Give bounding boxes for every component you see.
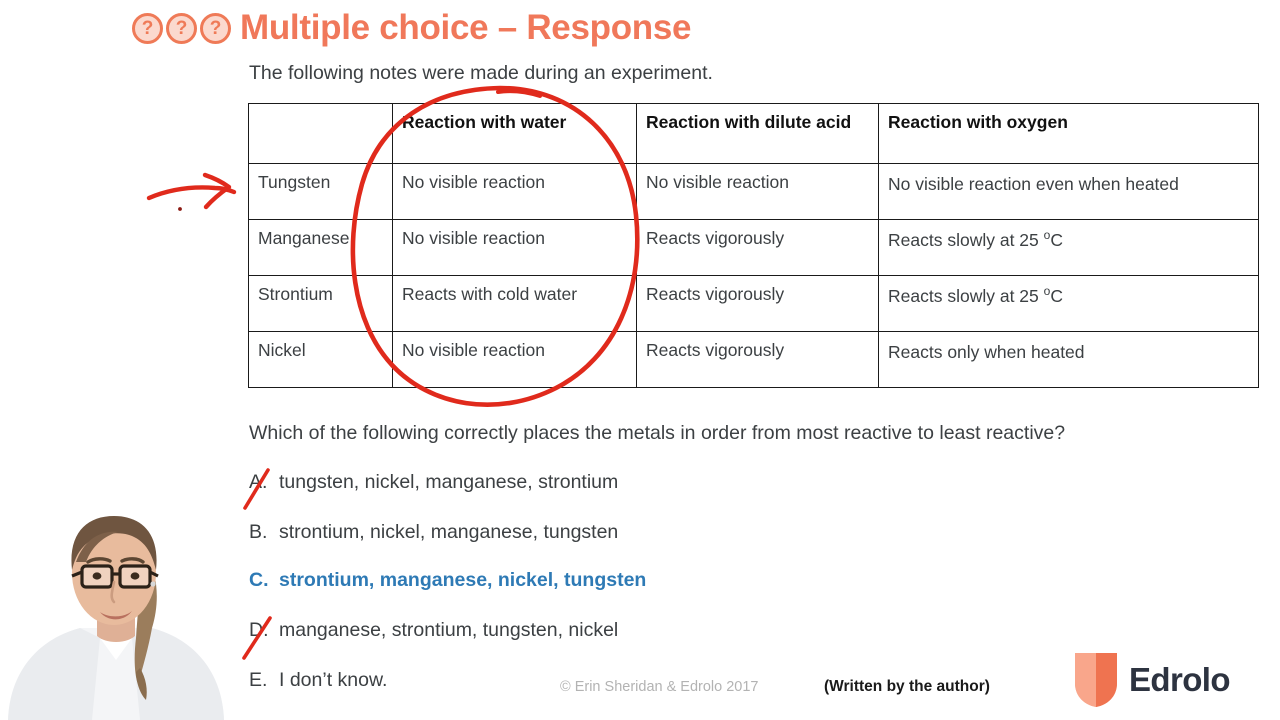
cell-metal: Manganese [249, 220, 393, 276]
question-mark-circle-icon: ? [166, 13, 197, 44]
cell-water: Reacts with cold water [393, 276, 637, 332]
option-b-text: strontium, nickel, manganese, tungsten [279, 521, 618, 543]
cell-metal: Strontium [249, 276, 393, 332]
table-row: Strontium Reacts with cold water Reacts … [249, 276, 1259, 332]
edrolo-logo: Edrolo [1073, 651, 1230, 709]
cell-oxygen-unit: C [1050, 230, 1063, 250]
cell-acid: Reacts vigorously [637, 332, 879, 388]
page-title-text: Multiple choice – Response [240, 8, 691, 48]
presenter-avatar [0, 478, 232, 720]
option-d-letter: D. [249, 619, 279, 642]
table-header-water: Reaction with water [393, 104, 637, 164]
option-c-letter: C. [249, 569, 279, 592]
page-title: ? ? ? Multiple choice – Response [132, 8, 691, 48]
shield-icon [1073, 651, 1119, 709]
reactivity-table: Reaction with water Reaction with dilute… [248, 103, 1259, 388]
cell-oxygen-text: Reacts slowly at 25 [888, 286, 1044, 306]
option-e-text: I don’t know. [279, 669, 387, 691]
cell-acid: Reacts vigorously [637, 220, 879, 276]
option-e[interactable]: E.I don’t know. [249, 669, 387, 692]
copyright-text: © Erin Sheridan & Edrolo 2017 [560, 679, 759, 695]
red-arrow-pointing-to-tungsten-row [149, 187, 234, 198]
cell-acid: No visible reaction [637, 164, 879, 220]
cell-water: No visible reaction [393, 164, 637, 220]
option-a-letter: A. [249, 471, 279, 494]
table-header-acid: Reaction with dilute acid [637, 104, 879, 164]
cell-acid: Reacts vigorously [637, 276, 879, 332]
red-ellipse-tail [498, 91, 540, 96]
cell-oxygen: Reacts only when heated [879, 332, 1259, 388]
cell-metal: Tungsten [249, 164, 393, 220]
cell-oxygen: Reacts slowly at 25 oC [879, 220, 1259, 276]
cell-metal: Nickel [249, 332, 393, 388]
table-header-row: Reaction with water Reaction with dilute… [249, 104, 1259, 164]
table-row: Nickel No visible reaction Reacts vigoro… [249, 332, 1259, 388]
option-a-text: tungsten, nickel, manganese, strontium [279, 471, 618, 493]
option-b[interactable]: B.strontium, nickel, manganese, tungsten [249, 521, 618, 544]
intro-text: The following notes were made during an … [249, 62, 713, 85]
edrolo-wordmark: Edrolo [1129, 661, 1230, 699]
question-prompt: Which of the following correctly places … [249, 422, 1065, 445]
cell-oxygen: No visible reaction even when heated [879, 164, 1259, 220]
option-d-text: manganese, strontium, tungsten, nickel [279, 619, 618, 641]
cell-oxygen: Reacts slowly at 25 oC [879, 276, 1259, 332]
question-mark-circle-icon: ? [132, 13, 163, 44]
cell-oxygen-text: Reacts slowly at 25 [888, 230, 1044, 250]
option-c[interactable]: C.strontium, manganese, nickel, tungsten [249, 569, 646, 592]
cell-oxygen-text: Reacts only when heated [888, 342, 1085, 362]
presenter-video-overlay[interactable] [0, 478, 232, 720]
cell-water: No visible reaction [393, 332, 637, 388]
table-row: Tungsten No visible reaction No visible … [249, 164, 1259, 220]
red-dot-mark [178, 207, 182, 211]
cell-oxygen-unit: C [1050, 286, 1063, 306]
option-a[interactable]: A.tungsten, nickel, manganese, strontium [249, 471, 618, 494]
slide-canvas: ? ? ? Multiple choice – Response The fol… [0, 0, 1280, 720]
table-row: Manganese No visible reaction Reacts vig… [249, 220, 1259, 276]
cell-oxygen-text: No visible reaction even when heated [888, 174, 1179, 194]
question-mark-circle-icon: ? [200, 13, 231, 44]
option-d[interactable]: D.manganese, strontium, tungsten, nickel [249, 619, 618, 642]
table-header-blank [249, 104, 393, 164]
cell-water: No visible reaction [393, 220, 637, 276]
red-arrow-head [205, 175, 229, 207]
option-b-letter: B. [249, 521, 279, 544]
option-e-letter: E. [249, 669, 279, 692]
table-header-oxygen: Reaction with oxygen [879, 104, 1259, 164]
option-c-text: strontium, manganese, nickel, tungsten [279, 569, 646, 591]
written-by-label: (Written by the author) [824, 678, 990, 696]
